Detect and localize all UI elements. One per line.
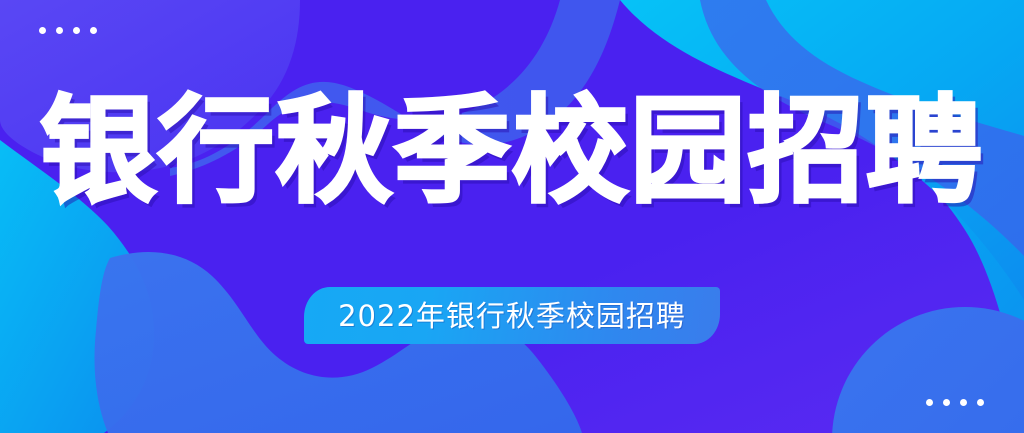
- dot-icon: [960, 399, 967, 406]
- dot-icon: [56, 27, 63, 34]
- banner-title: 银行秋季校园招聘: [0, 92, 1024, 212]
- decorative-dots-top-left: [39, 27, 97, 34]
- decorative-dots-bottom-right: [926, 399, 984, 406]
- dot-icon: [39, 27, 46, 34]
- subtitle-text: 2022年银行秋季校园招聘: [338, 301, 686, 331]
- subtitle-container: 2022年银行秋季校园招聘: [0, 287, 1024, 344]
- dot-icon: [926, 399, 933, 406]
- dot-icon: [90, 27, 97, 34]
- banner: 银行秋季校园招聘 2022年银行秋季校园招聘: [0, 0, 1024, 433]
- subtitle-ribbon: 2022年银行秋季校园招聘: [304, 287, 720, 344]
- dot-icon: [943, 399, 950, 406]
- dot-icon: [73, 27, 80, 34]
- dot-icon: [977, 399, 984, 406]
